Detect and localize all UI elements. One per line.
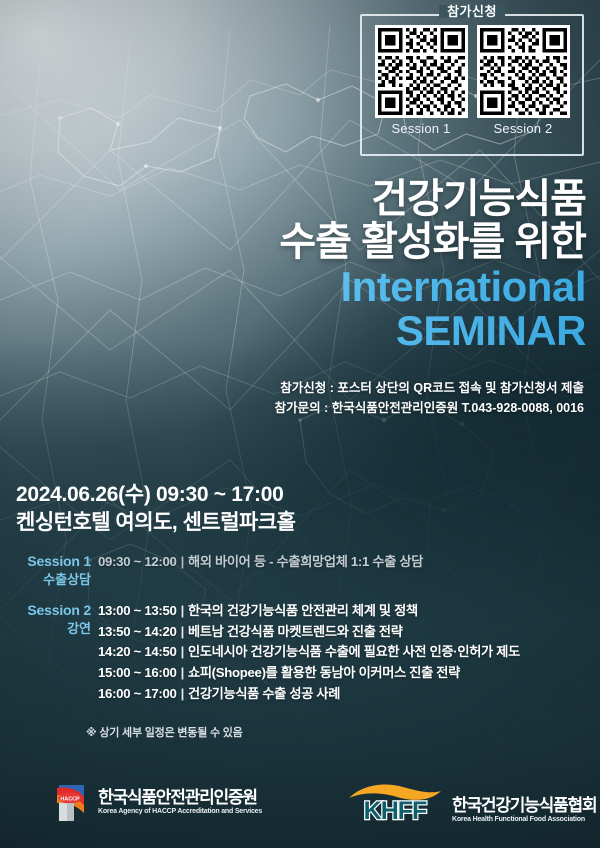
session-1-label: Session 1수출상담 xyxy=(16,552,98,589)
logo-haccp-name-kr: 한국식품안전관리인증원 xyxy=(98,789,262,807)
session-1-rows: 09:30 ~ 12:00|해외 바이어 등 - 수출희망업체 1:1 수출 상… xyxy=(98,552,586,573)
session-1: Session 1수출상담09:30 ~ 12:00|해외 바이어 등 - 수출… xyxy=(16,552,586,589)
khff-wordmark-icon: KHFF xyxy=(345,782,445,824)
schedule-row-time: 13:00 ~ 13:50 xyxy=(98,603,177,618)
schedule-row-time: 14:20 ~ 14:50 xyxy=(98,644,177,659)
seminar-poster: 참가신청 xyxy=(0,0,600,848)
schedule-row: 14:20 ~ 14:50|인도네시아 건강기능식품 수출에 필요한 사전 인증… xyxy=(98,642,586,663)
qr-panel-title: 참가신청 xyxy=(439,5,505,18)
qr-caption-session-2: Session 2 xyxy=(494,122,553,136)
title-line-2: 수출 활성화를 위한 xyxy=(26,221,586,264)
schedule-row: 13:00 ~ 13:50|한국의 건강기능식품 안전관리 체계 및 정책 xyxy=(98,601,586,622)
logo-khff-text: 한국건강기능식품협회 Korea Health Functional Food … xyxy=(452,797,596,824)
logo-khff-name-kr: 한국건강기능식품협회 xyxy=(452,797,596,815)
schedule-row-time: 16:00 ~ 17:00 xyxy=(98,686,177,701)
schedule-row-time: 13:50 ~ 14:20 xyxy=(98,624,177,639)
session-1-name: Session 1 xyxy=(16,552,91,570)
event-datetime-block: 2024.06.26(수) 09:30 ~ 17:00 켄싱턴호텔 여의도, 센… xyxy=(16,482,295,537)
registration-qr-panel: 참가신청 xyxy=(360,14,584,156)
schedule-footnote: ※ 상기 세부 일정은 변동될 수 있음 xyxy=(86,724,243,740)
schedule-row-separator: | xyxy=(181,686,184,701)
session-2: Session 2강연13:00 ~ 13:50|한국의 건강기능식품 안전관리… xyxy=(16,601,586,705)
contact-info-block: 참가신청 : 포스터 상단의 QR코드 접속 및 참가신청서 제출 참가문의 :… xyxy=(24,378,584,419)
schedule-row-separator: | xyxy=(181,665,184,680)
inquiry-line: 참가문의 : 한국식품안전관리인증원 T.043-928-0088, 0016 xyxy=(24,398,584,418)
session-2-label: Session 2강연 xyxy=(16,601,98,638)
qr-cell-session-1[interactable]: Session 1 xyxy=(372,25,470,136)
schedule-row-separator: | xyxy=(181,603,184,618)
event-venue: 켄싱턴호텔 여의도, 센트럴파크홀 xyxy=(16,510,295,536)
organizer-logos: HACCP 한국식품안전관리인증원 Korea Agency of HACCP … xyxy=(0,780,600,826)
schedule-row-topic: 베트남 건강식품 마켓트렌드와 진출 전략 xyxy=(188,624,403,639)
qr-code-row: Session 1 xyxy=(372,25,572,146)
registration-method-line: 참가신청 : 포스터 상단의 QR코드 접속 및 참가신청서 제출 xyxy=(24,378,584,398)
qr-code-session-1[interactable] xyxy=(375,25,468,118)
schedule-row: 09:30 ~ 12:00|해외 바이어 등 - 수출희망업체 1:1 수출 상… xyxy=(98,552,586,573)
schedule-row-topic: 해외 바이어 등 - 수출희망업체 1:1 수출 상담 xyxy=(188,554,423,569)
schedule-row-time: 09:30 ~ 12:00 xyxy=(98,554,177,569)
schedule-row-separator: | xyxy=(181,644,184,659)
schedule-row-topic: 한국의 건강기능식품 안전관리 체계 및 정책 xyxy=(188,603,418,618)
schedule-row: 16:00 ~ 17:00|건강기능식품 수출 성공 사례 xyxy=(98,684,586,705)
title-line-international: International xyxy=(26,266,586,309)
svg-text:KHFF: KHFF xyxy=(364,797,427,824)
session-2-kind: 강연 xyxy=(16,620,91,638)
schedule-row-separator: | xyxy=(181,624,184,639)
poster-title-block: 건강기능식품 수출 활성화를 위한 International SEMINAR xyxy=(26,178,586,353)
session-1-kind: 수출상담 xyxy=(16,571,91,589)
qr-caption-session-1: Session 1 xyxy=(392,122,451,136)
schedule-row-separator: | xyxy=(181,554,184,569)
title-line-1: 건강기능식품 xyxy=(26,178,586,221)
event-date: 2024.06.26(수) 09:30 ~ 17:00 xyxy=(16,482,295,508)
session-2-rows: 13:00 ~ 13:50|한국의 건강기능식품 안전관리 체계 및 정책13:… xyxy=(98,601,586,705)
schedule-row: 15:00 ~ 16:00|쇼피(Shopee)를 활용한 동남아 이커머스 진… xyxy=(98,663,586,684)
title-line-seminar: SEMINAR xyxy=(26,310,586,353)
qr-code-session-2[interactable] xyxy=(477,25,570,118)
schedule-row-topic: 인도네시아 건강기능식품 수출에 필요한 사전 인증·인허가 제도 xyxy=(188,644,520,659)
logo-khff: KHFF 한국건강기능식품협회 Korea Health Functional … xyxy=(345,782,596,824)
schedule-row-topic: 건강기능식품 수출 성공 사례 xyxy=(188,686,340,701)
haccp-shield-icon: HACCP xyxy=(54,783,92,823)
session-2-name: Session 2 xyxy=(16,601,91,619)
schedule-row-topic: 쇼피(Shopee)를 활용한 동남아 이커머스 진출 전략 xyxy=(188,665,460,680)
schedule-row-time: 15:00 ~ 16:00 xyxy=(98,665,177,680)
qr-cell-session-2[interactable]: Session 2 xyxy=(474,25,572,136)
schedule-block: Session 1수출상담09:30 ~ 12:00|해외 바이어 등 - 수출… xyxy=(16,552,586,717)
logo-haccp-name-en: Korea Agency of HACCP Accreditation and … xyxy=(98,808,262,816)
logo-khff-name-en: Korea Health Functional Food Association xyxy=(452,816,596,824)
svg-text:HACCP: HACCP xyxy=(60,796,80,802)
logo-haccp-text: 한국식품안전관리인증원 Korea Agency of HACCP Accred… xyxy=(98,789,262,816)
logo-haccp: HACCP 한국식품안전관리인증원 Korea Agency of HACCP … xyxy=(54,783,262,823)
schedule-row: 13:50 ~ 14:20|베트남 건강식품 마켓트렌드와 진출 전략 xyxy=(98,622,586,643)
